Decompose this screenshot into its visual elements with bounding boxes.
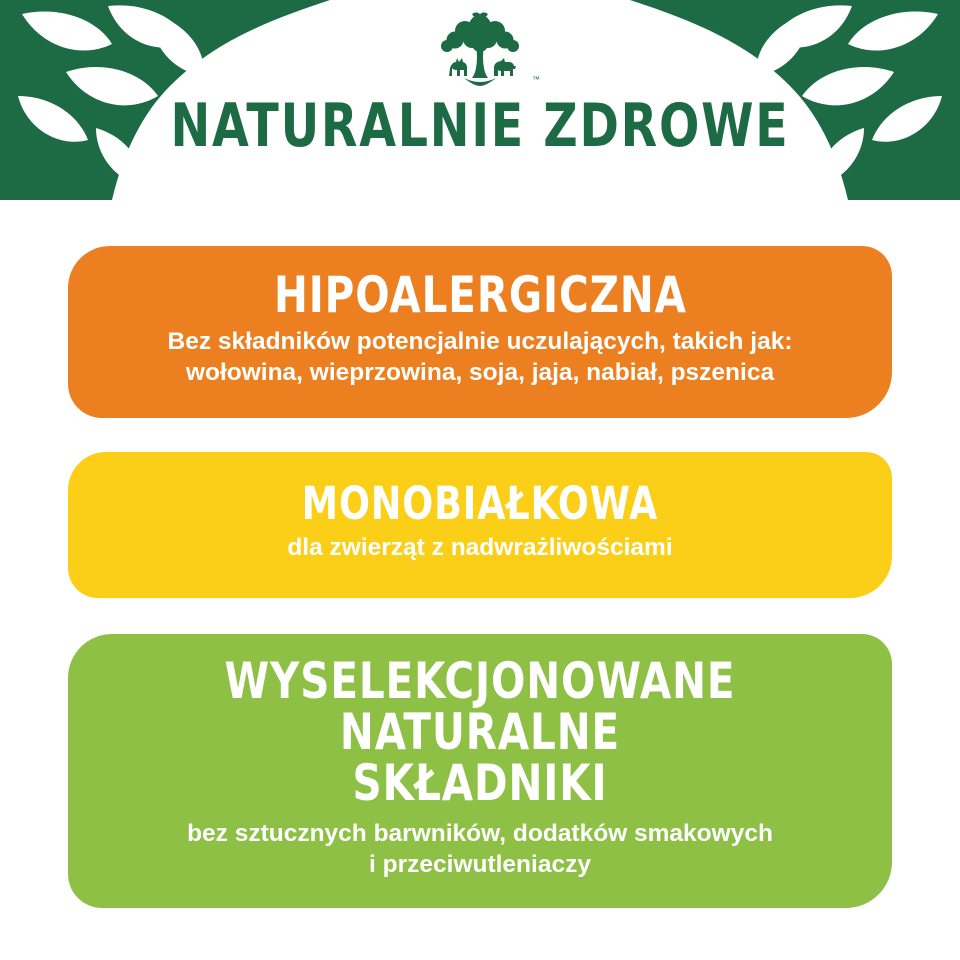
- infographic-canvas: ™ NATURALNIE ZDROWE HIPOALERGICZNA Bez s…: [0, 0, 960, 960]
- banner-title-naturalne-skladniki: WYSELEKCJONOWANE NATURALNE SKŁADNIKI: [145, 656, 815, 809]
- banner-subtitle-monobialkowa: dla zwierząt z nadwrażliwościami: [287, 533, 672, 564]
- tree-with-cat-and-dog-logo-icon: ™: [420, 10, 540, 88]
- feature-banner-monobialkowa: MONOBIAŁKOWA dla zwierząt z nadwrażliwoś…: [68, 452, 892, 598]
- trademark-symbol: ™: [532, 75, 540, 84]
- banner-title-monobialkowa: MONOBIAŁKOWA: [302, 481, 658, 527]
- feature-banner-naturalne-skladniki: WYSELEKCJONOWANE NATURALNE SKŁADNIKI bez…: [68, 634, 892, 908]
- page-title: NATURALNIE ZDROWE: [58, 95, 903, 158]
- banner-subtitle-hipoalergiczna: Bez składników potencjalnie uczulających…: [168, 327, 793, 388]
- banner-subtitle-naturalne-skladniki: bez sztucznych barwników, dodatków smako…: [187, 819, 773, 880]
- banner-title-hipoalergiczna: HIPOALERGICZNA: [274, 270, 687, 321]
- feature-banner-hipoalergiczna: HIPOALERGICZNA Bez składników potencjaln…: [68, 246, 892, 418]
